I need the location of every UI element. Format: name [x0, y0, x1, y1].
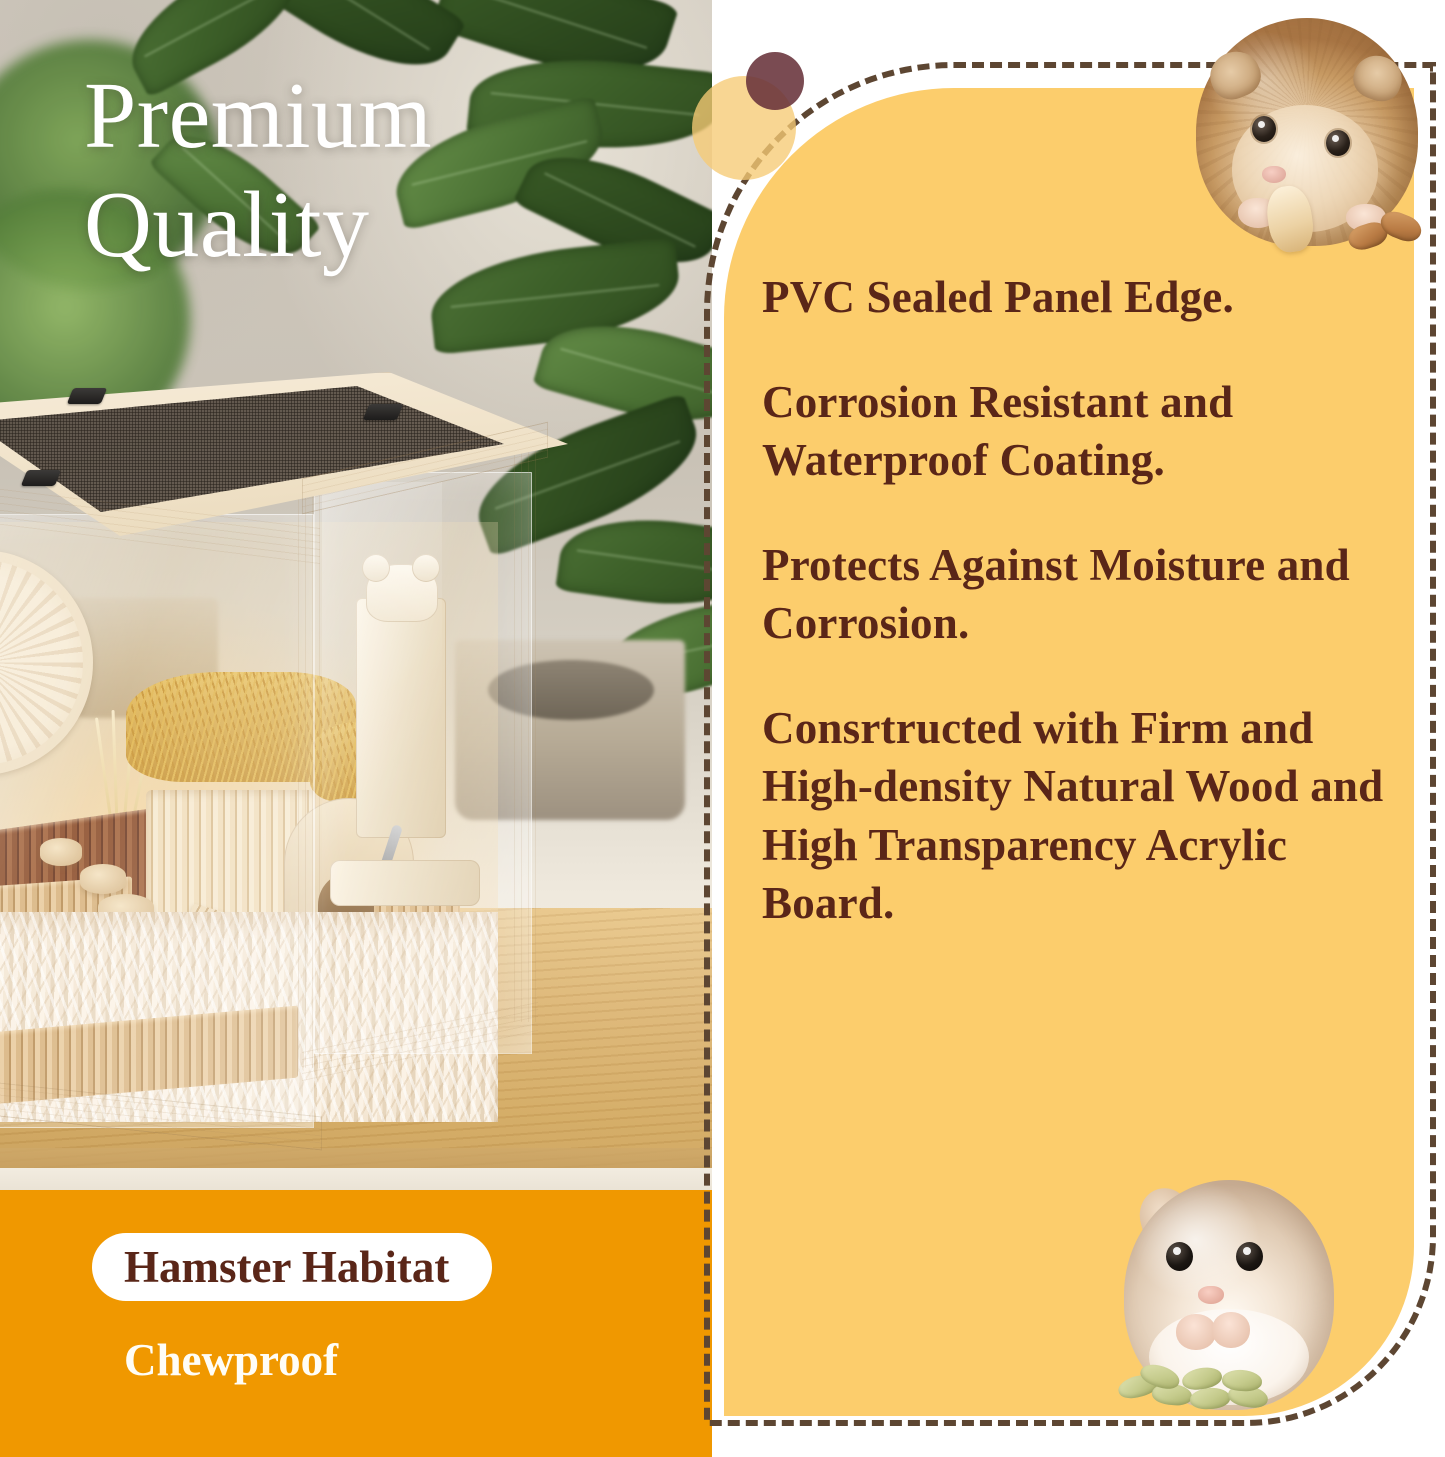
- corner-notch: [1411, 1411, 1445, 1457]
- product-name: Hamster Habitat: [124, 1241, 449, 1293]
- hamster-paw-left: [1176, 1314, 1216, 1350]
- hamster-paw-right: [1212, 1312, 1250, 1348]
- acrylic-front-panel: [0, 514, 314, 1128]
- hinge-2: [67, 388, 107, 404]
- hamster-eye-left: [1252, 116, 1276, 142]
- product-tagline: Chewproof: [124, 1334, 338, 1386]
- title-line-1: Premium: [84, 62, 684, 171]
- hamster-top-image: [1196, 18, 1418, 246]
- page-title: Premium Quality: [84, 62, 684, 280]
- eye-glint: [1332, 135, 1339, 142]
- hamster-nose: [1198, 1286, 1224, 1304]
- product-banner: [0, 1190, 712, 1457]
- product-infographic: Premium Quality PVC Sealed Panel Edge. C…: [0, 0, 1445, 1457]
- feature-item-3: Protects Against Moisture and Corrosion.: [762, 536, 1422, 653]
- eye-glint: [1258, 121, 1265, 128]
- hamster-eye-right: [1236, 1242, 1263, 1271]
- hamster-eye-left: [1166, 1242, 1193, 1271]
- feature-list: PVC Sealed Panel Edge. Corrosion Resista…: [762, 268, 1422, 933]
- feature-item-1: PVC Sealed Panel Edge.: [762, 268, 1422, 327]
- hinge-4: [21, 470, 61, 486]
- hamster-cage: [0, 372, 642, 1132]
- title-line-2: Quality: [84, 171, 684, 280]
- hamster-eye-right: [1326, 130, 1350, 156]
- hamster-nose: [1262, 166, 1286, 183]
- eye-glint: [1243, 1247, 1251, 1255]
- feature-item-4: Consrtructed with Firm and High-density …: [762, 699, 1422, 933]
- eye-glint: [1173, 1247, 1181, 1255]
- decorative-circle-maroon: [746, 52, 804, 110]
- hamster-bottom-image: [1124, 1180, 1334, 1410]
- hinge-3: [363, 404, 403, 420]
- feature-item-2: Corrosion Resistant and Waterproof Coati…: [762, 373, 1422, 490]
